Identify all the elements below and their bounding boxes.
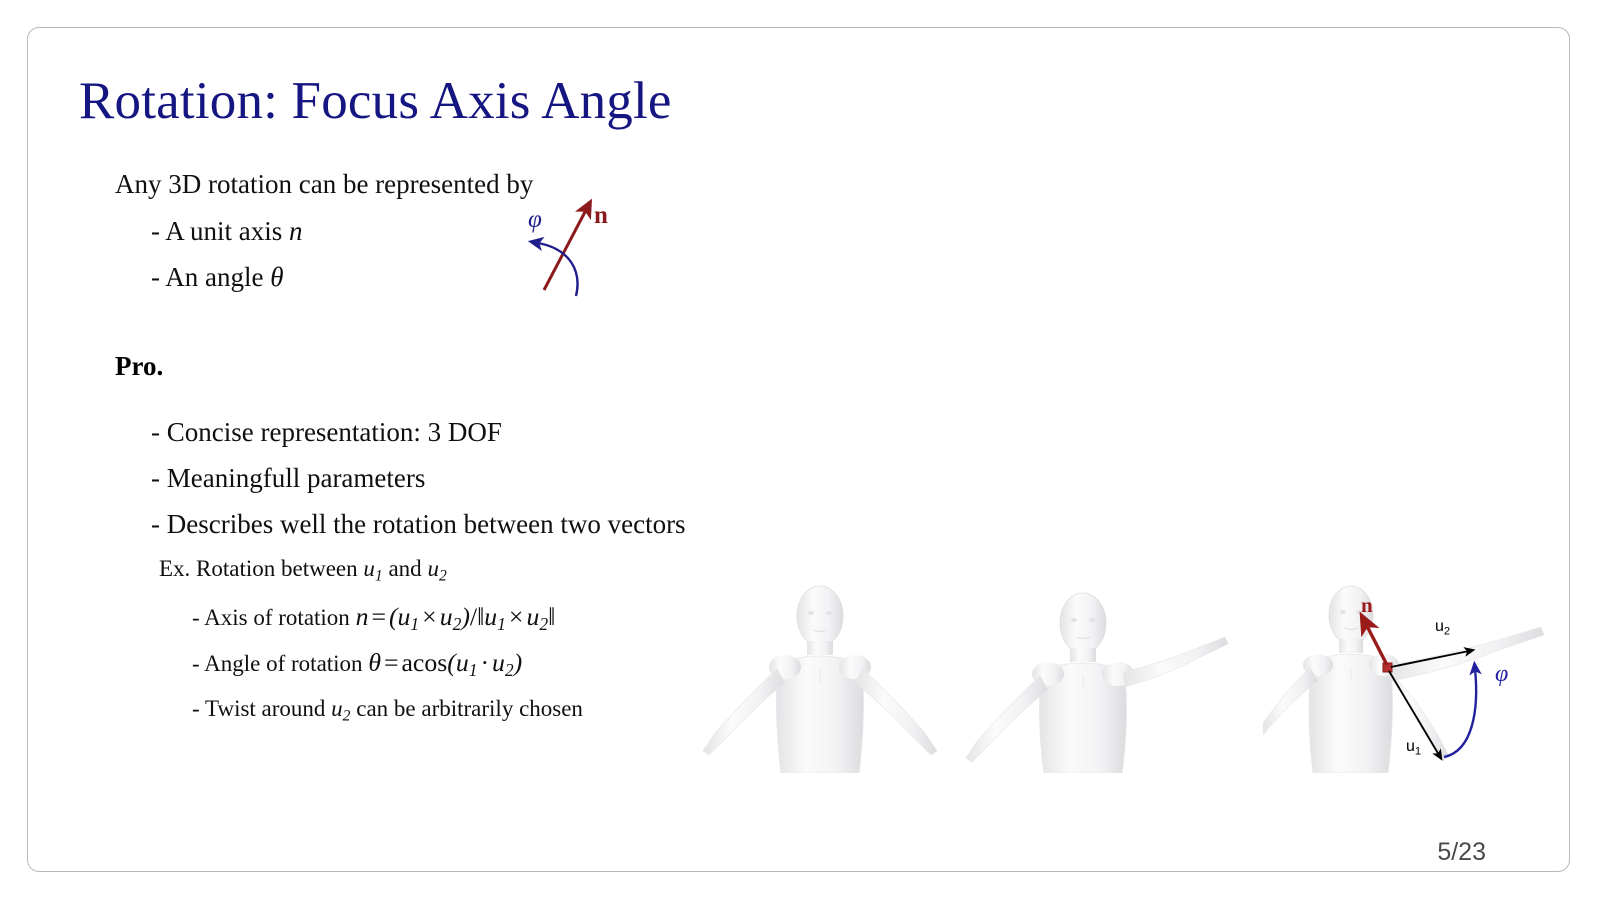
bullet-text: An angle	[165, 262, 263, 292]
annotation-label-u1: u1	[1406, 738, 1421, 757]
bullet-label: Angle of rotation	[204, 651, 362, 676]
humanoid-body	[966, 593, 1228, 773]
slide-frame: Rotation: Focus Axis Angle Any 3D rotati…	[27, 27, 1570, 872]
angle-label-phi: φ	[528, 206, 542, 234]
figure-humanoid-annotated: n u2 u1 φ	[1263, 583, 1568, 773]
example-item-twist: - Twist around u2 can be arbitrarily cho…	[192, 696, 583, 725]
intro-line: Any 3D rotation can be represented by	[115, 170, 533, 200]
rotation-arc-shape	[1444, 669, 1476, 757]
bullet-dash: -	[151, 216, 160, 246]
bullet-dash: -	[192, 605, 200, 630]
example-u1: u1	[363, 556, 382, 581]
axis-label-n: n	[594, 202, 608, 230]
page-number: 5/23	[1437, 838, 1486, 867]
humanoid-left-arm-raised-svg	[943, 583, 1238, 773]
pro-bullet-1: - Concise representation: 3 DOF	[151, 418, 502, 448]
bullet-dash: -	[192, 696, 200, 721]
bullet-dash: -	[151, 262, 160, 292]
figure-humanoid-arms-down	[693, 583, 948, 773]
symbol-n: n	[289, 216, 303, 246]
axis-angle-diagram: n φ	[498, 193, 638, 303]
figure-humanoid-left-arm-raised	[943, 583, 1238, 773]
example-item-angle: - Angle of rotation θ=acos(u1·u2)	[192, 649, 522, 680]
example-and: and	[388, 556, 421, 581]
example-lead-prefix: Ex. Rotation between	[159, 556, 358, 581]
pro-bullet-3: - Describes well the rotation between tw…	[151, 510, 686, 540]
symbol-u2: u2	[331, 696, 350, 721]
axis-arrow-n-shape	[544, 210, 586, 290]
axis-angle-svg	[498, 193, 638, 303]
example-u2: u2	[427, 556, 446, 581]
example-item-axis: - Axis of rotation n=(u1×u2)/‖u1×u2‖	[192, 603, 555, 634]
twist-tail-text: can be arbitrarily chosen	[356, 696, 583, 721]
bullet-label: Axis of rotation	[204, 605, 350, 630]
page-title: Rotation: Focus Axis Angle	[79, 74, 672, 130]
intro-bullet-angle: - An angle θ	[151, 263, 284, 293]
humanoid-arms-down-svg	[693, 583, 948, 773]
intro-bullet-axis: - A unit axis n	[151, 217, 303, 247]
annotation-label-u2: u2	[1435, 618, 1450, 637]
bullet-label: Twist around	[205, 696, 325, 721]
formula-axis-of-rotation: n=(u1×u2)/‖u1×u2‖	[356, 602, 556, 631]
bullet-text: A unit axis	[165, 216, 282, 246]
symbol-theta: θ	[270, 262, 283, 292]
pro-bullet-2: - Meaningfull parameters	[151, 464, 425, 494]
annotation-label-phi: φ	[1495, 661, 1508, 688]
bullet-dash: -	[192, 651, 200, 676]
annotation-label-n: n	[1361, 593, 1373, 618]
humanoid-body	[703, 586, 937, 773]
pro-heading: Pro.	[115, 351, 163, 382]
example-lead: Ex. Rotation between u1 and u2	[159, 556, 447, 585]
formula-angle-of-rotation: θ=acos(u1·u2)	[368, 648, 522, 677]
